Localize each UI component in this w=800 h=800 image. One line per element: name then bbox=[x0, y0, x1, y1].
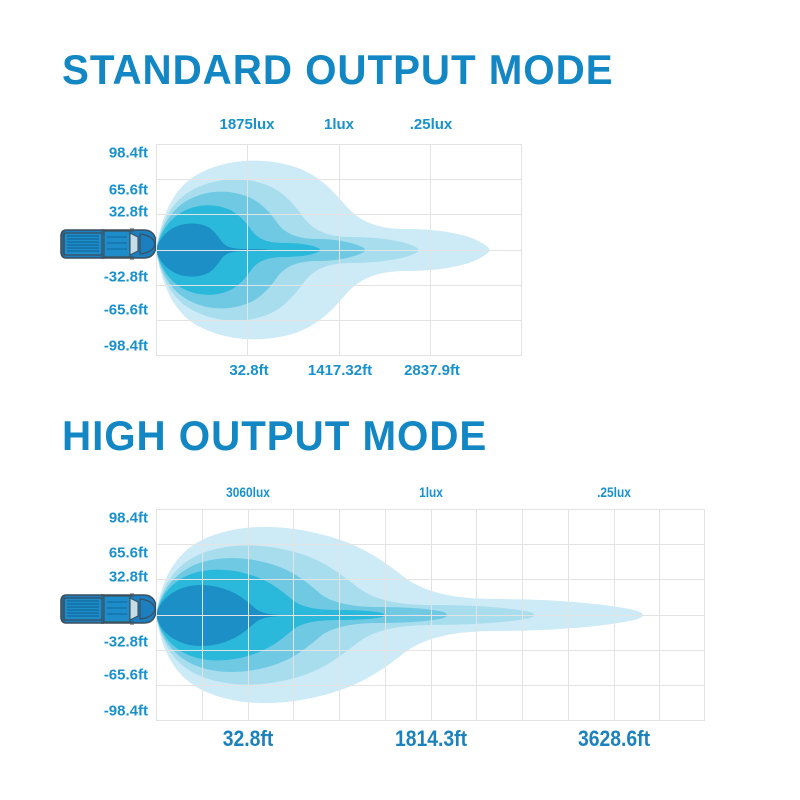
y-tick-32-8: 32.8ft bbox=[109, 204, 148, 221]
x-tick-1814-3ft: 1814.3ft bbox=[395, 726, 467, 752]
lux-label-025: .25lux bbox=[410, 116, 453, 133]
lux-label-1: 1lux bbox=[419, 484, 443, 500]
chart-high-output-mode: 3060lux 1lux .25lux 98.4ft 65.6ft 32.8ft… bbox=[0, 478, 800, 753]
plot-area-standard bbox=[156, 144, 522, 356]
y-tick-neg-32-8: -32.8ft bbox=[104, 269, 148, 286]
y-tick-neg-98-4: -98.4ft bbox=[104, 338, 148, 355]
vehicle-truck-icon-high bbox=[60, 585, 158, 633]
y-tick-32-8: 32.8ft bbox=[109, 569, 148, 586]
x-tick-2837-9ft: 2837.9ft bbox=[404, 362, 460, 379]
y-tick-neg-65-6: -65.6ft bbox=[104, 302, 148, 319]
page-title-standard-output-mode: STANDARD OUTPUT MODE bbox=[62, 46, 614, 94]
y-tick-98-4: 98.4ft bbox=[109, 145, 148, 162]
y-tick-65-6: 65.6ft bbox=[109, 545, 148, 562]
x-axis-high: 32.8ft 1814.3ft 3628.6ft bbox=[0, 726, 800, 756]
lux-label-1875: 1875lux bbox=[219, 116, 274, 133]
x-tick-32-8ft: 32.8ft bbox=[229, 362, 268, 379]
vehicle-truck-icon-standard bbox=[60, 220, 158, 268]
chart-standard-output-mode: 1875lux 1lux .25lux 98.4ft 65.6ft 32.8ft… bbox=[0, 110, 800, 380]
x-tick-1417-32ft: 1417.32ft bbox=[308, 362, 372, 379]
y-tick-98-4: 98.4ft bbox=[109, 510, 148, 527]
beam-pattern-infographic: STANDARD OUTPUT MODE 1875lux 1lux .25lux… bbox=[0, 0, 800, 800]
lux-label-3060: 3060lux bbox=[226, 484, 270, 500]
page-title-high-output-mode: HIGH OUTPUT MODE bbox=[62, 412, 487, 460]
y-tick-65-6: 65.6ft bbox=[109, 182, 148, 199]
plot-area-high bbox=[156, 509, 705, 721]
x-tick-3628-6ft: 3628.6ft bbox=[578, 726, 650, 752]
lux-label-025: .25lux bbox=[597, 484, 631, 500]
x-tick-32-8ft: 32.8ft bbox=[223, 726, 274, 752]
y-tick-neg-65-6: -65.6ft bbox=[104, 667, 148, 684]
lux-label-1: 1lux bbox=[324, 116, 354, 133]
y-tick-neg-98-4: -98.4ft bbox=[104, 703, 148, 720]
y-tick-neg-32-8: -32.8ft bbox=[104, 634, 148, 651]
x-axis-standard: 32.8ft 1417.32ft 2837.9ft bbox=[0, 362, 800, 386]
